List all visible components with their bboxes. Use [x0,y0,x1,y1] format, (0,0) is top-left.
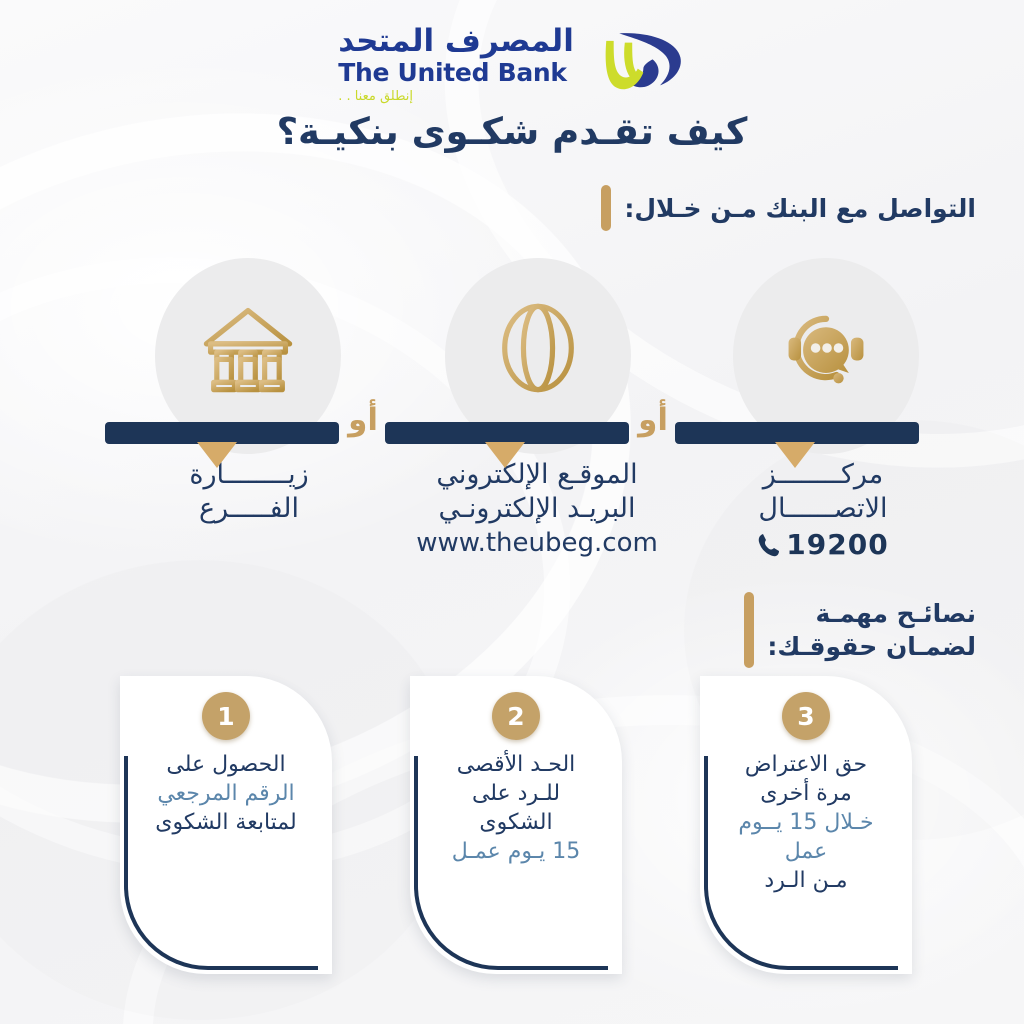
label-branch-visit: زيــــــــارة الفـــــرع [124,458,374,526]
card3-line-5: مـن الـرد [710,866,902,895]
branch-line1: زيــــــــارة [124,458,374,492]
contact-section-heading: التواصل مع البنك مـن خـلال: [601,185,976,231]
card-number-badge: 1 [202,692,250,740]
logo-arabic-name: المصرف المتحد [338,26,574,57]
card1-line-3: لمتابعة الشكوى [130,808,322,837]
card-number-badge: 3 [782,692,830,740]
tips-heading-line2: لضمـان حقوقـك: [767,630,976,663]
separator-label-1: أو [638,405,668,436]
call-center-headset-icon [774,296,878,400]
infographic-canvas: المصرف المتحد The United Bank إنطلق معنا… [0,0,1024,1024]
tips-cards: 1 الحصول على الرقم المرجعي لمتابعة الشكو… [0,676,1024,986]
website-url[interactable]: www.theubeg.com [412,528,662,558]
call-center-line1: مركــــــــز [698,458,948,492]
tip-card-2[interactable]: 2 الحـد الأقصى للـرد على الشكوى 15 يـوم … [410,676,622,974]
pointer-triangle [775,442,815,468]
card3-line-2: مرة أخرى [710,779,902,808]
card-text-3: حق الاعتراض مرة أخرى خـلال 15 يــوم عمل … [710,750,902,895]
card2-line-1: الحـد الأقصى [420,750,612,779]
tip-card-1[interactable]: 1 الحصول على الرقم المرجعي لمتابعة الشكو… [120,676,332,974]
tips-heading-line1: نصائـح مهمـة [767,597,976,630]
website-line1: الموقـع الإلكتروني [412,458,662,492]
label-call-center: مركــــــــز الاتصــــــال 19200 [698,458,948,561]
logo-english-name: The United Bank [338,60,567,85]
card2-line-2: للـرد على [420,779,612,808]
tips-section-heading: نصائـح مهمـة لضمـان حقوقـك: [744,592,976,668]
contact-heading-text: التواصل مع البنك مـن خـلال: [624,192,976,225]
card1-line-1: الحصول على [130,750,322,779]
card3-line-1: حق الاعتراض [710,750,902,779]
call-center-phone[interactable]: 19200 [698,528,948,561]
card3-line-4: عمل [710,837,902,866]
pointer-triangle [485,442,525,468]
bank-building-icon [196,296,300,400]
call-center-line2: الاتصــــــال [698,492,948,526]
phone-handset-icon [757,532,781,558]
branch-line2: الفـــــرع [124,492,374,526]
bank-logo: المصرف المتحد The United Bank إنطلق معنا… [0,14,1024,114]
united-bank-logo-mark [584,26,686,102]
page-title: كيف تقـدم شكـوى بنكيـة؟ [0,110,1024,153]
card1-line-2: الرقم المرجعي [130,779,322,808]
channel-labels: مركــــــــز الاتصــــــال 19200 الموقـع… [100,458,924,588]
gold-accent-bar [744,592,754,668]
card-text-1: الحصول على الرقم المرجعي لمتابعة الشكوى [130,750,322,837]
card-number-badge: 2 [492,692,540,740]
card2-line-4: 15 يـوم عمـل [420,837,612,866]
gold-accent-bar [601,185,611,231]
card2-line-3: الشكوى [420,808,612,837]
globe-website-icon [486,296,590,400]
card3-line-3: خـلال 15 يــوم [710,808,902,837]
tip-card-3[interactable]: 3 حق الاعتراض مرة أخرى خـلال 15 يــوم عم… [700,676,912,974]
navy-bar-segment [675,422,919,444]
channel-connector-bar: أو أو [105,422,919,444]
card-text-2: الحـد الأقصى للـرد على الشكوى 15 يـوم عم… [420,750,612,866]
label-website: الموقـع الإلكتروني البريـد الإلكترونـي w… [412,458,662,558]
phone-number: 19200 [786,528,888,561]
navy-bar-segment [385,422,629,444]
pointer-triangle [197,442,237,468]
navy-bar-segment [105,422,339,444]
logo-tagline: إنطلق معنا . . [338,90,413,103]
website-line2: البريـد الإلكترونـي [412,492,662,526]
tips-heading-text: نصائـح مهمـة لضمـان حقوقـك: [767,597,976,663]
separator-label-2: أو [348,405,378,436]
